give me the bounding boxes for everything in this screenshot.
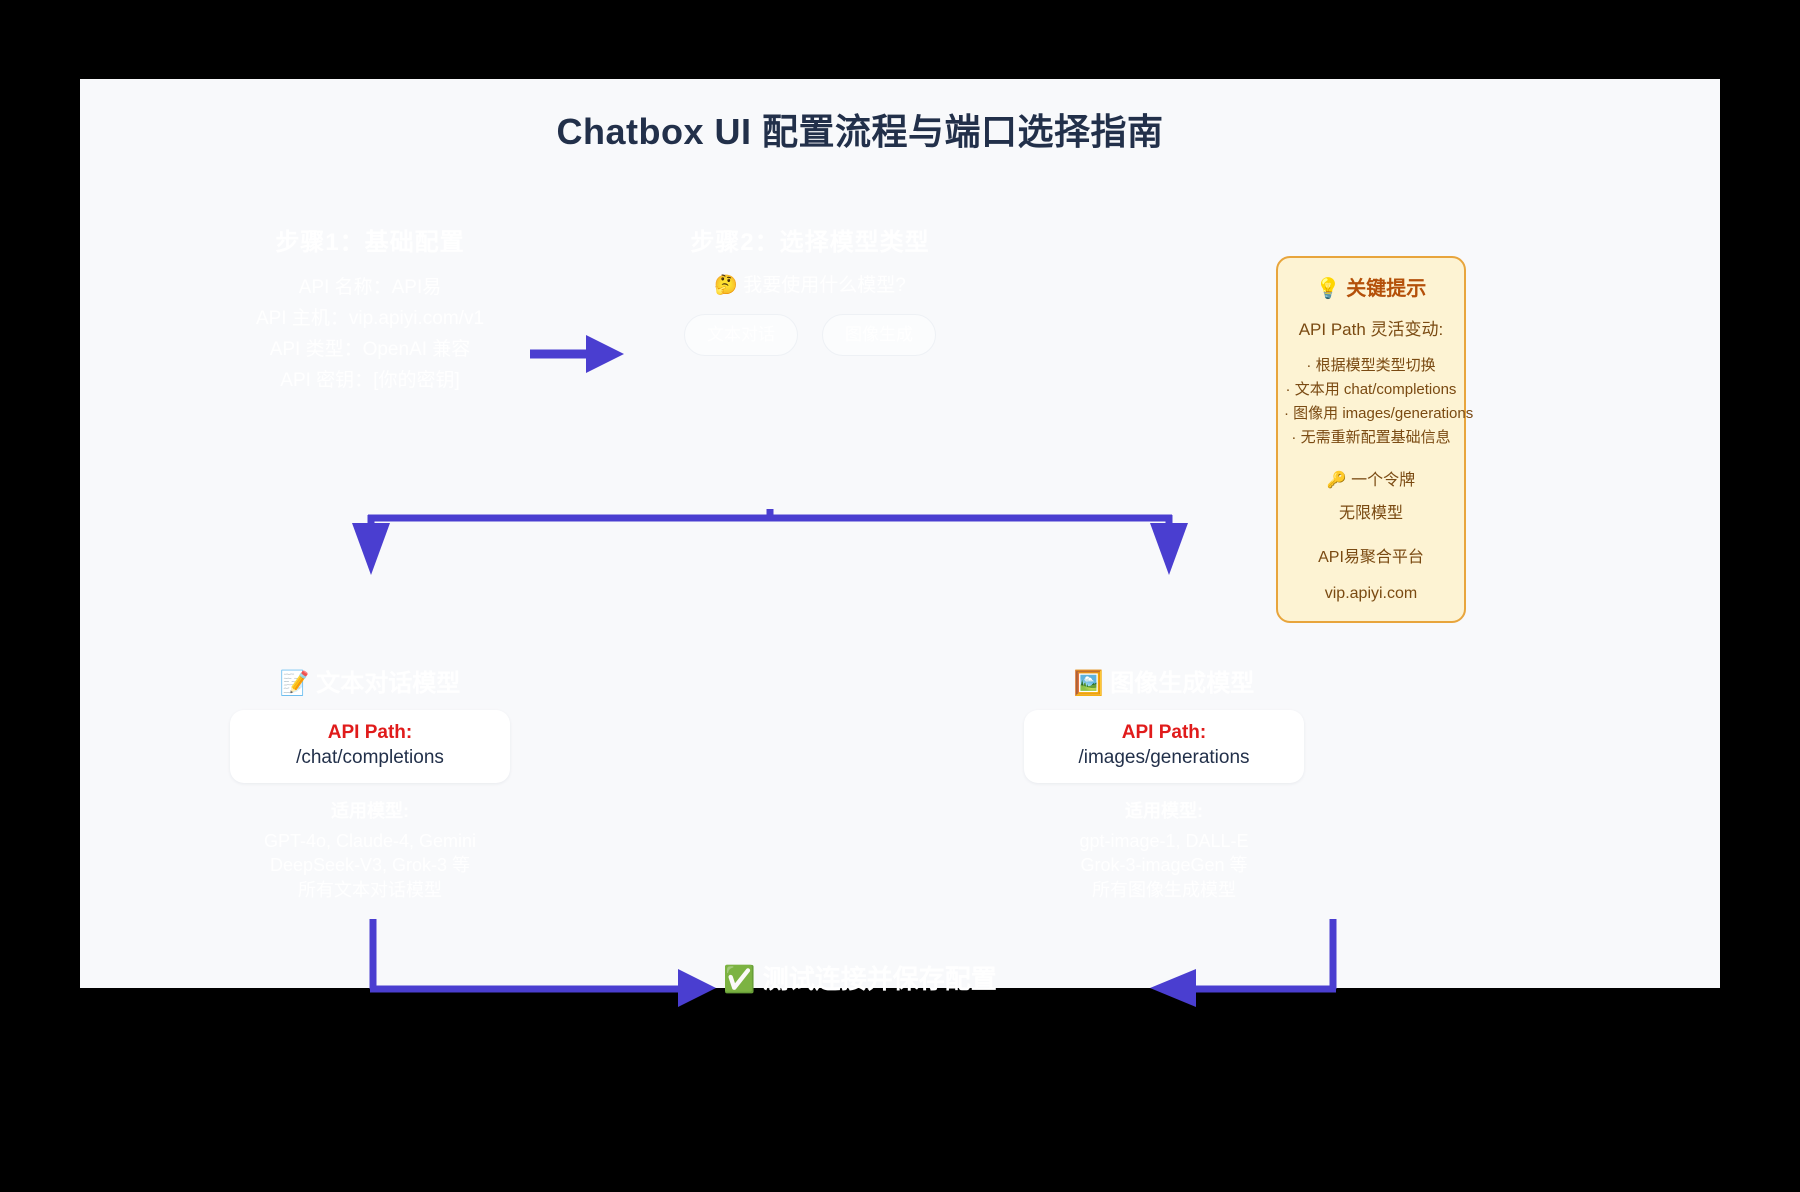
- step-1-line-api-type: API 类型：OpenAI 兼容: [230, 337, 510, 362]
- option-text-chat[interactable]: 文本对话: [684, 314, 798, 356]
- api-path-card-image: API Path: /images/generations: [1024, 710, 1304, 783]
- arrow-image-branch-to-final: [1148, 917, 1338, 1007]
- tips-title: 💡 关键提示: [1284, 272, 1458, 301]
- tips-bullet-2: · 文本用 chat/completions: [1284, 378, 1458, 402]
- api-path-label-image: API Path:: [1032, 722, 1296, 744]
- branch-image-models: 适用模型: gpt-image-1, DALL-E Grok-3-imageGe…: [1024, 797, 1304, 902]
- step-2-options: 文本对话 图像生成: [670, 314, 950, 356]
- tips-key-label: 一个令牌: [1351, 472, 1415, 489]
- step-2-heading: 步骤2：选择模型类型: [670, 227, 950, 259]
- final-node-label: 测试连接并保存配置: [763, 964, 997, 994]
- arrow-step1-to-step2: [528, 331, 628, 377]
- branch-image-heading-label: 图像生成模型: [1110, 670, 1254, 697]
- tips-url[interactable]: vip.apiyi.com: [1284, 585, 1458, 603]
- tips-key-line: 🔑 一个令牌: [1284, 466, 1458, 490]
- api-path-value-image: /images/generations: [1032, 747, 1296, 769]
- step-2-question: 🤔 我要使用什么模型?: [670, 273, 950, 298]
- step-1-line-api-key: API 密钥：[你的密钥]: [230, 368, 510, 393]
- api-path-value-text: /chat/completions: [238, 747, 502, 769]
- memo-icon: 📝: [280, 669, 310, 697]
- branch-text-models: 适用模型: GPT-4o, Claude-4, Gemini DeepSeek-…: [230, 797, 510, 902]
- branch-text-models-title: 适用模型:: [230, 797, 510, 823]
- tips-brand: API易聚合平台: [1284, 543, 1458, 567]
- tips-lead: API Path 灵活变动:: [1284, 315, 1458, 340]
- page-title: Chatbox UI 配置流程与端口选择指南: [80, 103, 1640, 155]
- tips-bullet-1: · 根据模型类型切换: [1284, 354, 1458, 378]
- step-2-question-text: 我要使用什么模型?: [743, 275, 906, 296]
- branch-text-models-line-1: GPT-4o, Claude-4, Gemini: [230, 829, 510, 853]
- api-path-card-text: API Path: /chat/completions: [230, 710, 510, 783]
- branch-text-models-line-2: DeepSeek-V3, Grok-3 等: [230, 853, 510, 877]
- step-1-block: 步骤1：基础配置 API 名称：API易 API 主机：vip.apiyi.co…: [230, 227, 510, 399]
- option-image-gen[interactable]: 图像生成: [822, 314, 936, 356]
- tips-title-label: 关键提示: [1346, 278, 1426, 300]
- branch-image-models-line-2: Grok-3-imageGen 等: [1024, 853, 1304, 877]
- step-1-heading: 步骤1：基础配置: [230, 227, 510, 259]
- tips-key-sub: 无限模型: [1284, 499, 1458, 523]
- branch-text-models-line-3: 所有文本对话模型: [230, 878, 510, 902]
- thinking-face-icon: 🤔: [714, 274, 738, 296]
- branch-image-gen: 🖼️ 图像生成模型 API Path: /images/generations …: [1024, 663, 1304, 902]
- key-tips-box: 💡 关键提示 API Path 灵活变动: · 根据模型类型切换 · 文本用 c…: [1276, 256, 1466, 623]
- api-path-label-text: API Path:: [238, 722, 502, 744]
- branch-image-models-title: 适用模型:: [1024, 797, 1304, 823]
- key-icon: 🔑: [1327, 470, 1347, 489]
- arrow-text-branch-to-final: [368, 917, 718, 1007]
- final-node-save-config: ✅ 测试连接并保存配置: [700, 959, 1020, 996]
- check-mark-button-icon: ✅: [723, 965, 755, 995]
- diagram-canvas: Chatbox UI 配置流程与端口选择指南 步骤1：基础配置 API 名称：A…: [80, 79, 1720, 988]
- light-bulb-icon: 💡: [1316, 276, 1341, 300]
- branch-image-heading: 🖼️ 图像生成模型: [1024, 663, 1304, 698]
- branch-image-models-line-3: 所有图像生成模型: [1024, 878, 1304, 902]
- branch-text-chat: 📝 文本对话模型 API Path: /chat/completions 适用模…: [230, 663, 510, 902]
- tips-bullet-3: · 图像用 images/generations: [1284, 402, 1458, 426]
- branch-text-heading: 📝 文本对话模型: [230, 663, 510, 698]
- tips-bullet-4: · 无需重新配置基础信息: [1284, 426, 1458, 450]
- step-1-line-api-name: API 名称：API易: [230, 275, 510, 300]
- framed-picture-icon: 🖼️: [1074, 669, 1104, 697]
- branch-image-models-line-1: gpt-image-1, DALL-E: [1024, 829, 1304, 853]
- step-1-line-api-host: API 主机：vip.apiyi.com/v1: [230, 306, 510, 331]
- branch-connector-arrows: [350, 509, 1190, 579]
- step-2-block: 步骤2：选择模型类型 🤔 我要使用什么模型? 文本对话 图像生成: [670, 227, 950, 356]
- branch-text-heading-label: 文本对话模型: [316, 670, 460, 697]
